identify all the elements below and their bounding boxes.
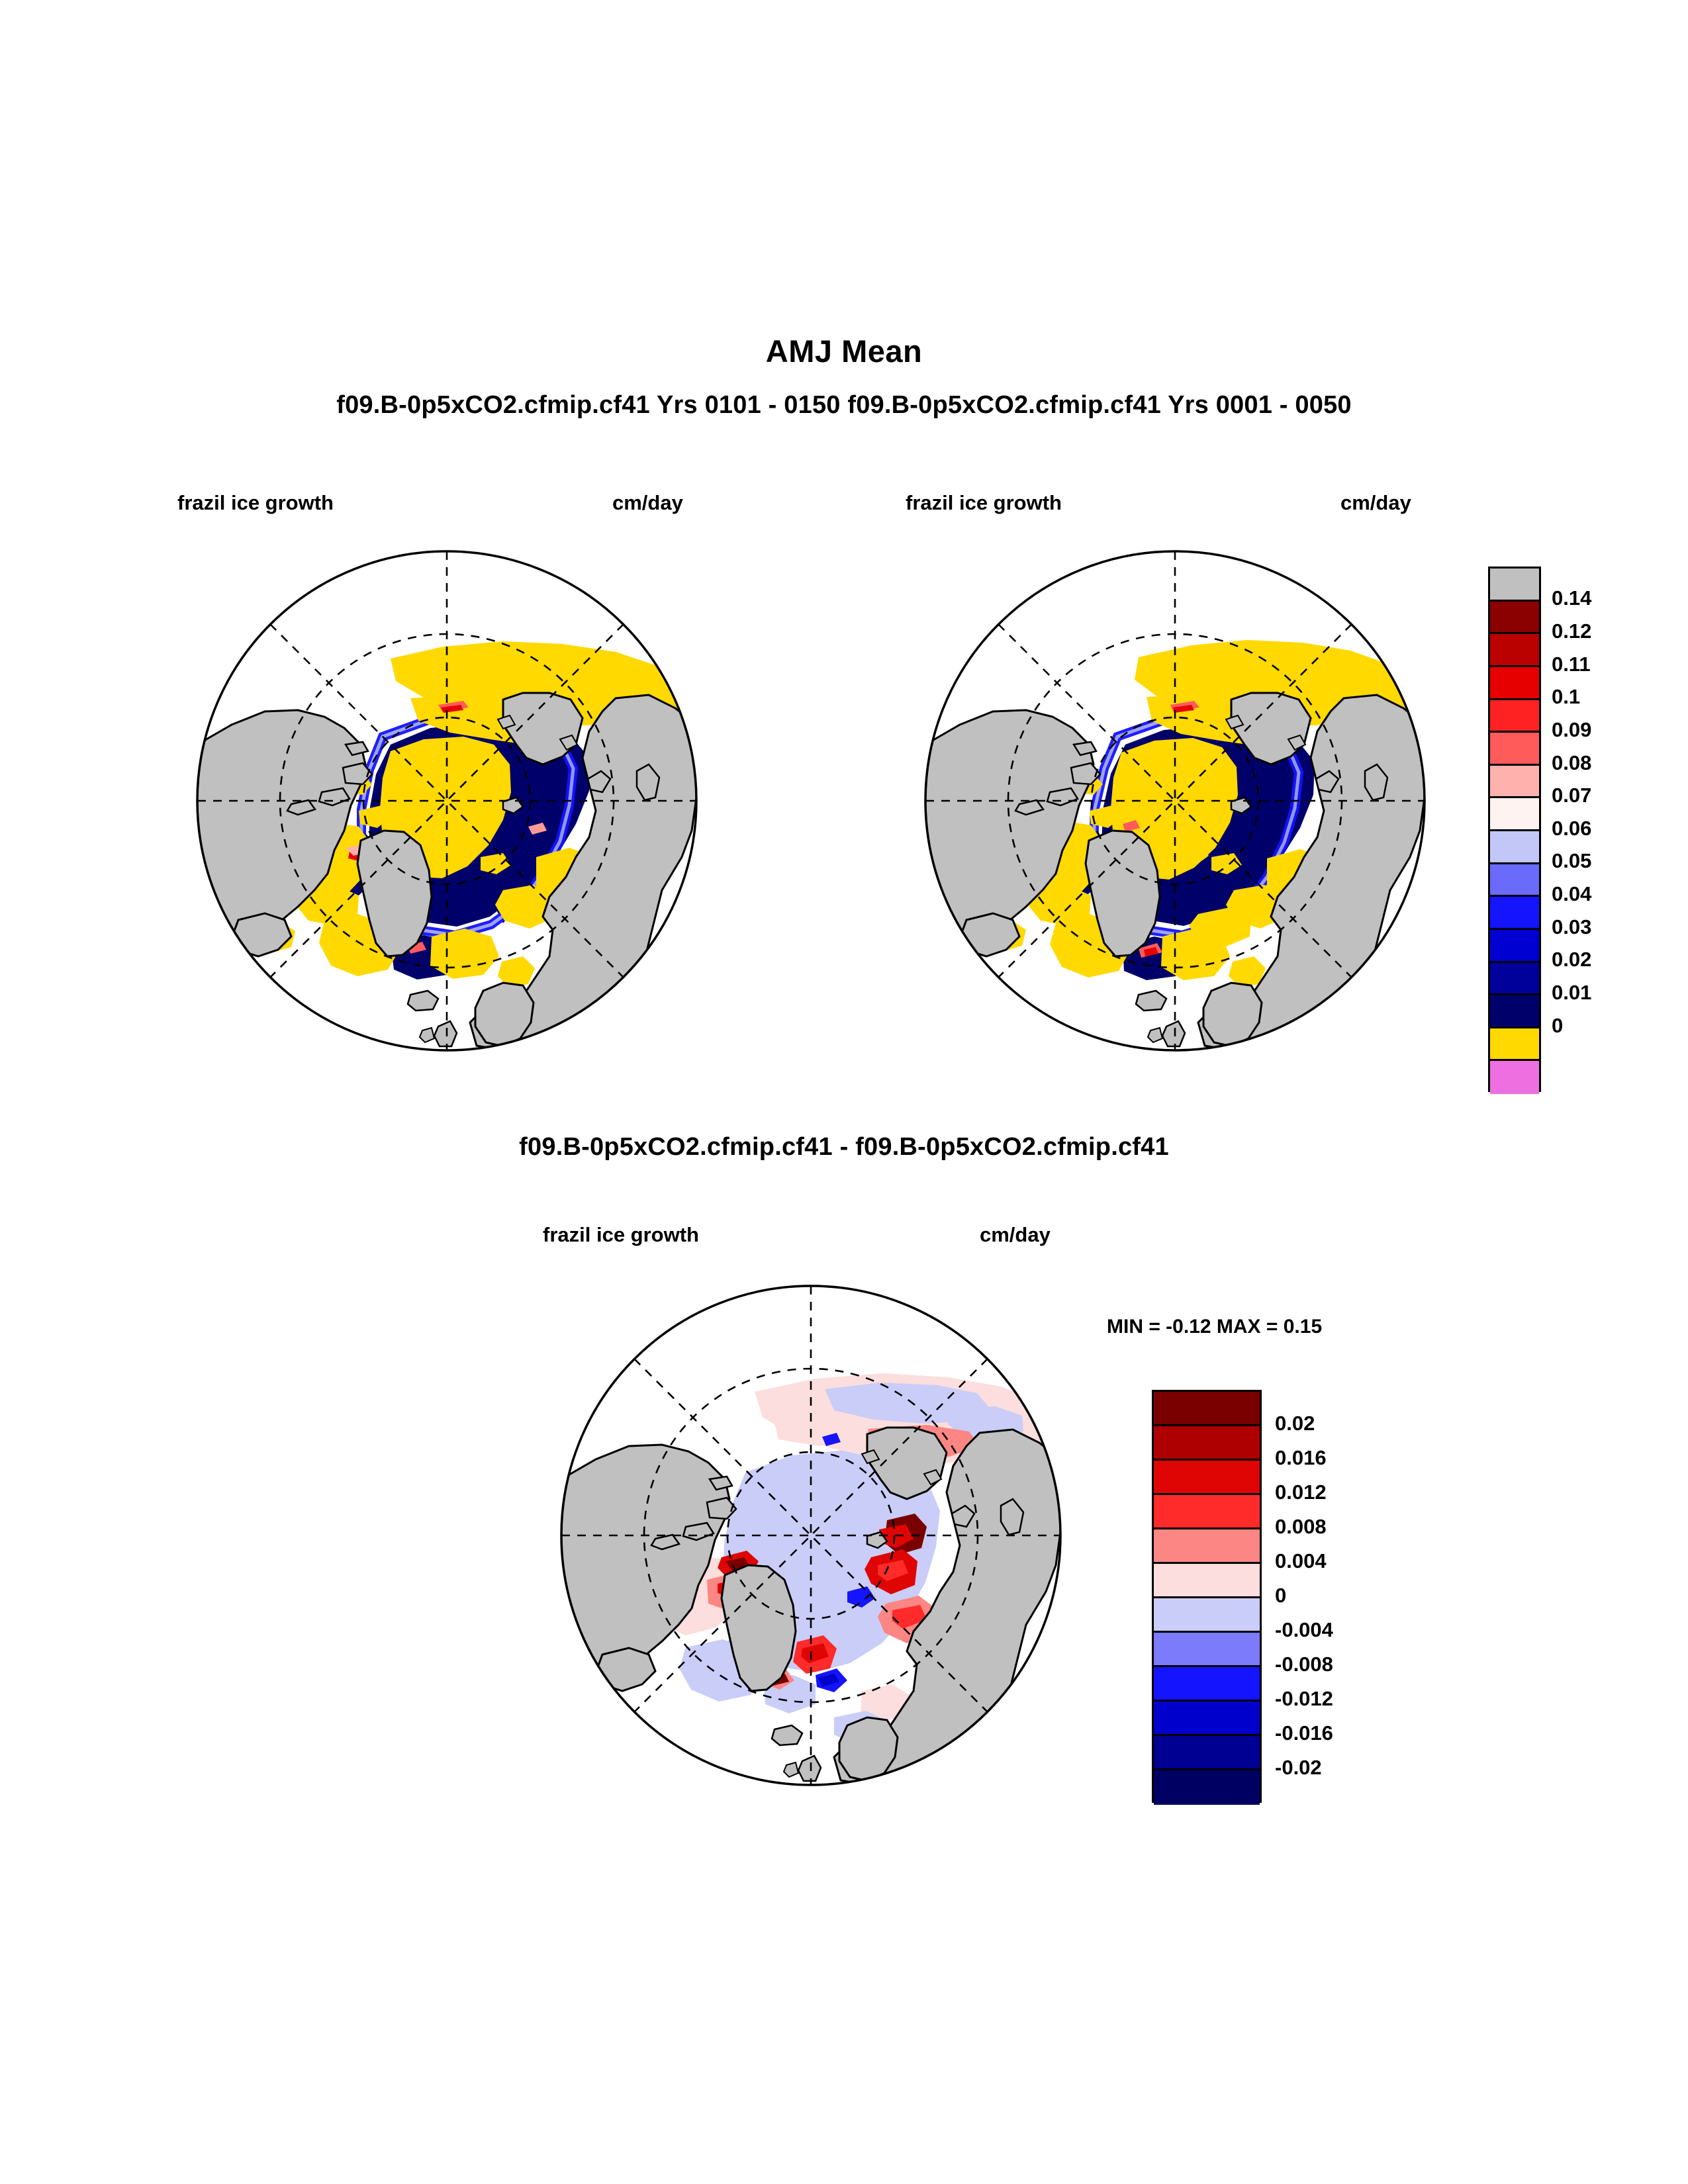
colorbar-tick-label: 0.06 [1552, 817, 1591, 841]
colorbar-swatch [1490, 733, 1539, 766]
colorbar-tick-label: -0.004 [1275, 1618, 1333, 1642]
colorbar-swatch [1154, 1736, 1260, 1770]
colorbar-swatch [1490, 1061, 1539, 1094]
colorbar-swatch [1154, 1529, 1260, 1564]
polar-map-case1[interactable] [192, 546, 702, 1056]
colorbar-swatch [1154, 1564, 1260, 1598]
colorbar-swatch [1490, 634, 1539, 667]
colorbar-tick-label: 0.14 [1552, 586, 1591, 610]
colorbar-tick-label: 0.012 [1275, 1480, 1327, 1504]
colorbar-tick-label: 0.004 [1275, 1549, 1327, 1573]
colorbar-tick-label: 0.12 [1552, 619, 1591, 643]
colorbar-swatch [1154, 1495, 1260, 1529]
colorbar-tick-label: 0.05 [1552, 849, 1591, 873]
page-title: AMJ Mean [0, 333, 1688, 369]
colorbar-tick-label: -0.02 [1275, 1756, 1322, 1780]
colorbar-swatch [1490, 897, 1539, 930]
difference-panel-title: f09.B-0p5xCO2.cfmip.cf41 - f09.B-0p5xCO2… [0, 1133, 1688, 1161]
colorbar-swatch [1490, 831, 1539, 864]
colorbar-swatch [1490, 930, 1539, 963]
colorbar-main-swatches [1488, 567, 1541, 1092]
colorbar-swatch [1490, 667, 1539, 700]
colorbar-tick-label: 0 [1552, 1014, 1563, 1038]
polar-map-case2[interactable] [920, 546, 1430, 1056]
panel1-units-label: cm/day [612, 491, 683, 515]
colorbar-tick-label: 0.11 [1552, 653, 1591, 676]
colorbar-tick-label: 0.04 [1552, 882, 1591, 906]
polar-map-difference-svg [556, 1281, 1066, 1790]
colorbar-swatch [1490, 569, 1539, 602]
colorbar-tick-label: -0.008 [1275, 1653, 1333, 1676]
colorbar-tick-label: 0.016 [1275, 1446, 1327, 1470]
colorbar-difference-labels: 0.020.0160.0120.0080.0040-0.004-0.008-0.… [1275, 1390, 1397, 1803]
colorbar-swatch [1154, 1633, 1260, 1667]
colorbar-swatch [1490, 766, 1539, 799]
colorbar-tick-label: 0.09 [1552, 718, 1591, 742]
colorbar-tick-label: 0.03 [1552, 915, 1591, 939]
colorbar-swatch [1154, 1770, 1260, 1805]
colorbar-swatch [1490, 963, 1539, 996]
polar-map-case2-svg [920, 546, 1430, 1056]
colorbar-tick-label: 0.08 [1552, 751, 1591, 775]
panel2-units-label: cm/day [1340, 491, 1411, 515]
colorbar-tick-label: 0.008 [1275, 1515, 1327, 1539]
colorbar-swatch [1490, 700, 1539, 733]
colorbar-swatch [1490, 864, 1539, 897]
colorbar-main-labels: 0.140.120.110.10.090.080.070.060.050.040… [1552, 567, 1667, 1092]
colorbar-tick-label: 0.01 [1552, 981, 1591, 1005]
panel1-variable-label: frazil ice growth [177, 491, 334, 515]
colorbar-tick-label: 0 [1275, 1584, 1286, 1608]
minmax-readout: MIN = -0.12 MAX = 0.15 [1107, 1316, 1322, 1338]
colorbar-swatch [1154, 1598, 1260, 1633]
colorbar-swatch [1154, 1702, 1260, 1736]
colorbar-difference[interactable]: 0.020.0160.0120.0080.0040-0.004-0.008-0.… [1152, 1390, 1397, 1803]
colorbar-difference-swatches [1152, 1390, 1262, 1803]
colorbar-swatch [1490, 798, 1539, 831]
polar-map-difference[interactable] [556, 1281, 1066, 1790]
colorbar-swatch [1154, 1667, 1260, 1702]
colorbar-tick-label: 0.02 [1275, 1412, 1315, 1435]
colorbar-tick-label: 0.07 [1552, 784, 1591, 807]
polar-map-case1-svg [192, 546, 702, 1056]
colorbar-swatch [1490, 602, 1539, 635]
diff-variable-label: frazil ice growth [543, 1223, 699, 1247]
colorbar-swatch [1154, 1426, 1260, 1461]
colorbar-tick-label: -0.012 [1275, 1687, 1333, 1711]
colorbar-tick-label: 0.1 [1552, 685, 1580, 709]
colorbar-tick-label: 0.02 [1552, 948, 1591, 972]
colorbar-swatch [1154, 1392, 1260, 1426]
colorbar-swatch [1490, 995, 1539, 1028]
colorbar-swatch [1490, 1028, 1539, 1062]
colorbar-swatch [1154, 1461, 1260, 1495]
panel2-variable-label: frazil ice growth [906, 491, 1062, 515]
diff-units-label: cm/day [980, 1223, 1051, 1247]
colorbar-tick-label: -0.016 [1275, 1721, 1333, 1745]
colorbar-main[interactable]: 0.140.120.110.10.090.080.070.060.050.040… [1488, 567, 1667, 1092]
figure-canvas: AMJ Mean f09.B-0p5xCO2.cfmip.cf41 Yrs 01… [0, 0, 1688, 2184]
figure-subtitle: f09.B-0p5xCO2.cfmip.cf41 Yrs 0101 - 0150… [0, 391, 1688, 420]
